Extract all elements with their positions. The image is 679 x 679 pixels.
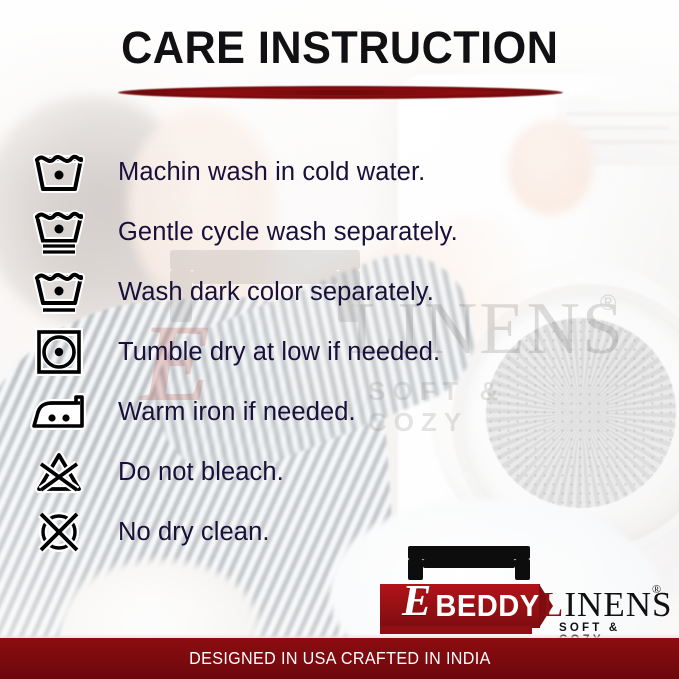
no-dry-clean-icon	[0, 509, 118, 555]
permanent-press-wash-icon	[0, 269, 118, 315]
bed-icon	[408, 546, 530, 580]
instruction-row: Warm iron if needed.	[0, 382, 679, 442]
logo-brand-mark: E	[402, 579, 431, 623]
machine-wash-icon	[0, 151, 118, 193]
instruction-row: Tumble dry at low if needed.	[0, 322, 679, 382]
instruction-row: Gentle cycle wash separately.	[0, 202, 679, 262]
footer-text: DESIGNED IN USA CRAFTED IN INDIA	[189, 648, 491, 669]
instruction-row: Wash dark color separately.	[0, 262, 679, 322]
title-divider-core	[150, 90, 530, 95]
tumble-dry-low-icon	[0, 328, 118, 376]
instruction-row: Do not bleach.	[0, 442, 679, 502]
instruction-text: Do not bleach.	[118, 458, 284, 487]
instruction-text: No dry clean.	[118, 518, 270, 547]
logo-brand-name: BEDDY	[435, 590, 539, 621]
care-instruction-card: E LINENS ® SOFT & COZY CARE INSTRUCTION …	[0, 0, 679, 679]
instruction-text: Warm iron if needed.	[118, 398, 356, 427]
instruction-text: Machin wash in cold water.	[118, 158, 425, 187]
gentle-cycle-wash-icon	[0, 208, 118, 256]
instruction-list: Machin wash in cold water. Gentle cycle …	[0, 142, 679, 562]
instruction-text: Tumble dry at low if needed.	[118, 338, 440, 367]
instruction-text: Gentle cycle wash separately.	[118, 218, 458, 247]
do-not-bleach-icon	[0, 450, 118, 494]
registered-mark: ®	[652, 582, 661, 597]
logo-secondary-initial: L	[542, 585, 564, 624]
logo-banner-foot	[380, 626, 532, 634]
page-title: CARE INSTRUCTION	[121, 22, 558, 74]
instruction-text: Wash dark color separately.	[118, 278, 434, 307]
footer-bar: DESIGNED IN USA CRAFTED IN INDIA	[0, 638, 679, 679]
instruction-row: Machin wash in cold water.	[0, 142, 679, 202]
page-title-wrap: CARE INSTRUCTION	[0, 22, 679, 74]
brand-logo: E BEDDY LINENS ® SOFT & COZY	[396, 546, 664, 638]
warm-iron-icon	[0, 392, 118, 432]
